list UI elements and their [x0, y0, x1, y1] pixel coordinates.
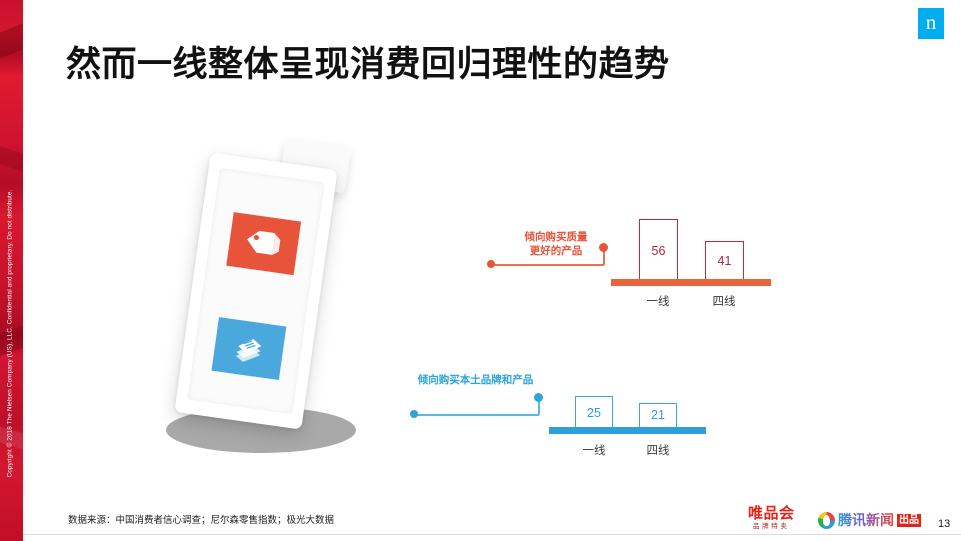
category-label-local-tier4: 四线 [628, 442, 688, 458]
nielsen-logo-icon: n [918, 8, 944, 39]
category-label-local-tier1: 一线 [564, 442, 624, 458]
callout-label-quality-line1: 倾向购买质量 [508, 230, 604, 244]
bar-quality-tier1: 56 [639, 219, 678, 280]
vipshop-logo: 唯品会 品牌特卖 [748, 506, 795, 531]
tencent-news-logo: 腾讯新闻 出品 [818, 510, 921, 530]
ribbon-facet [0, 23, 23, 58]
tencent-produced-badge: 出品 [897, 514, 921, 527]
callout-label-quality-line2: 更好的产品 [508, 244, 604, 258]
callout-label-local-brand-line1: 倾向购买本土品牌和产品 [398, 373, 553, 387]
tencent-news-name: 腾讯新闻 [838, 510, 894, 530]
source-note: 数据来源：中国消费者信心调查；尼尔森零售指数；极光大数据 [68, 512, 334, 526]
connector-dot-start [410, 410, 418, 418]
connector-dot-start [487, 260, 495, 268]
vipshop-logo-name: 唯品会 [748, 506, 795, 522]
connector-dot-end [599, 243, 608, 252]
tencent-penguin-icon [818, 512, 835, 529]
page-number: 13 [938, 518, 950, 530]
category-label-quality-tier1: 一线 [628, 293, 688, 309]
bottle-inner-panel [187, 168, 325, 414]
bar-quality-tier4: 41 [705, 241, 744, 280]
slide-canvas: Copyright © 2018 The Nielsen Company (US… [0, 0, 961, 541]
page-title: 然而一线整体呈现消费回归理性的趋势 [66, 36, 670, 87]
footer-divider [23, 534, 961, 535]
price-tag-icon [226, 212, 301, 275]
category-label-quality-tier4: 四线 [694, 293, 754, 309]
bar-local-tier1: 25 [575, 396, 613, 428]
callout-label-quality: 倾向购买质量 更好的产品 [508, 230, 604, 258]
callout-label-local-brand: 倾向购买本土品牌和产品 [398, 373, 553, 387]
bar-local-tier4: 21 [639, 403, 677, 428]
bottle-illustration [150, 135, 410, 465]
connector-dot-end [534, 393, 543, 402]
document-stack-icon [211, 317, 286, 380]
bottle-body [174, 152, 337, 429]
baseline-quality [611, 279, 771, 286]
baseline-local-brand [549, 427, 706, 434]
copyright-notice: Copyright © 2018 The Nielsen Company (US… [7, 124, 14, 541]
vipshop-logo-tagline: 品牌特卖 [748, 522, 795, 531]
